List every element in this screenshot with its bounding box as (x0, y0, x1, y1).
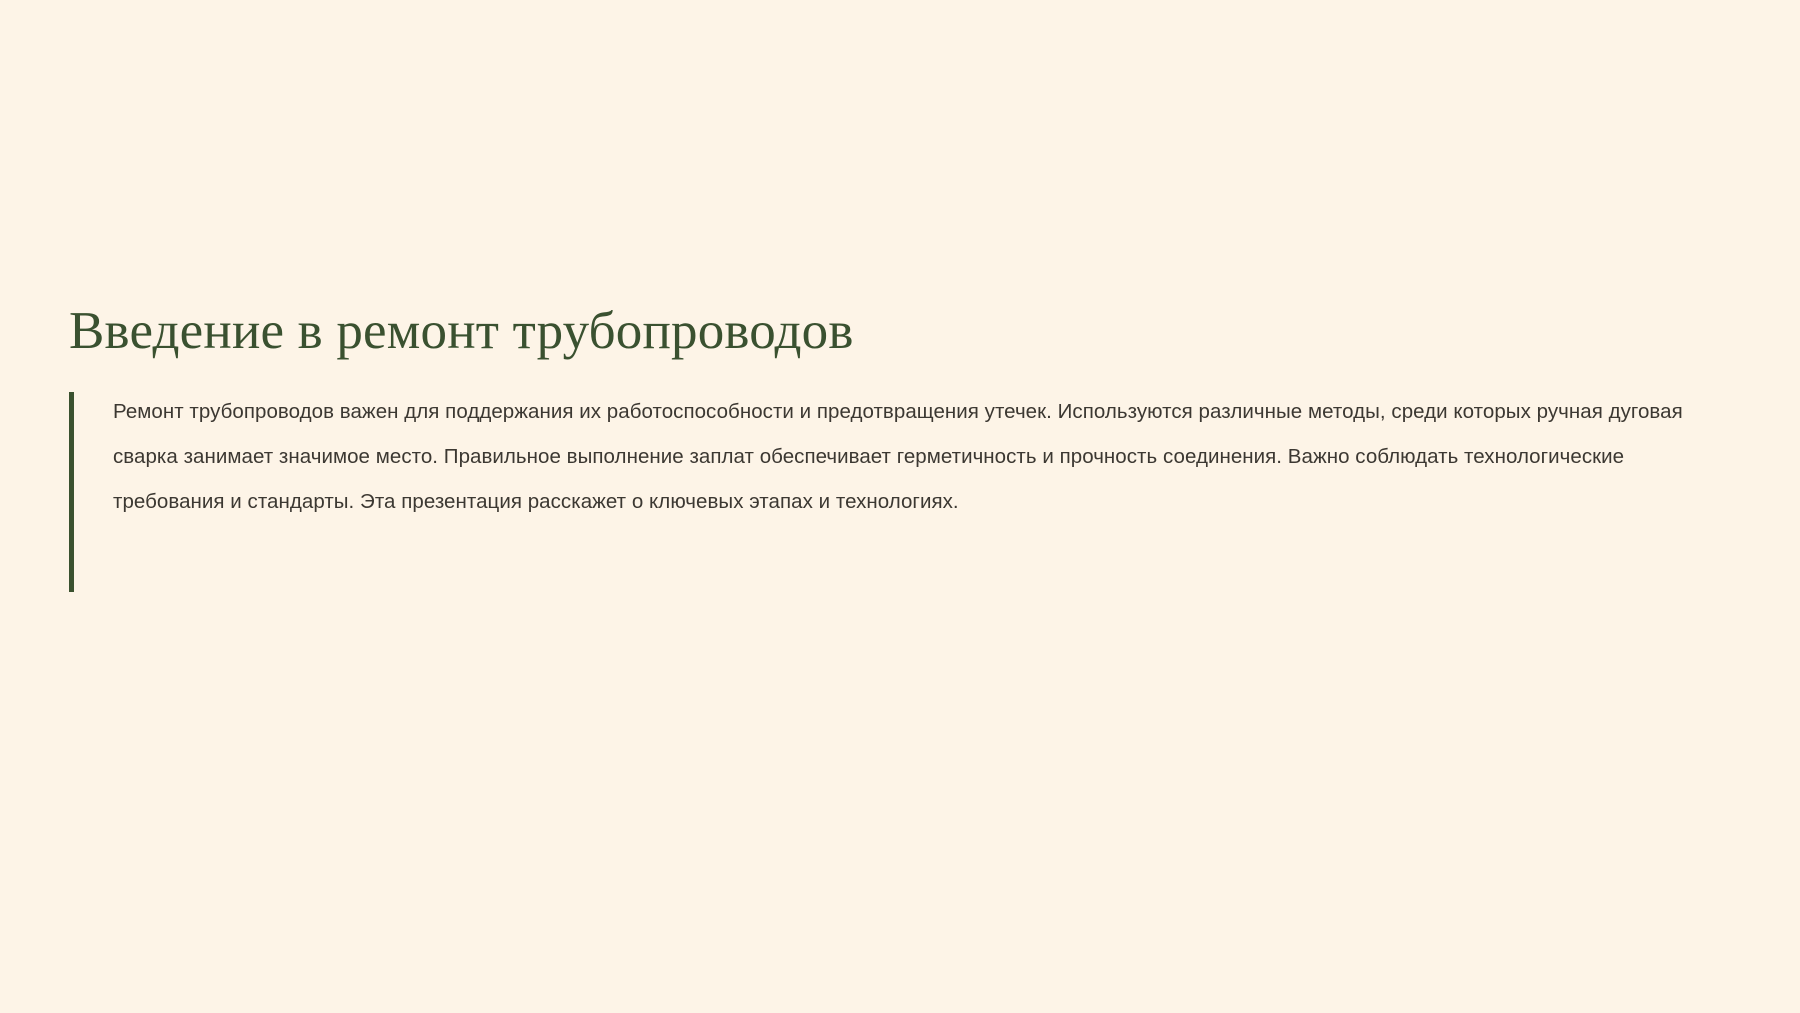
slide-content: Введение в ремонт трубопроводов Ремонт т… (69, 300, 1749, 589)
body-block: Ремонт трубопроводов важен для поддержан… (69, 389, 1749, 589)
page-title: Введение в ремонт трубопроводов (69, 300, 1749, 363)
accent-bar (69, 392, 74, 592)
presentation-slide: Введение в ремонт трубопроводов Ремонт т… (0, 0, 1800, 1013)
body-paragraph: Ремонт трубопроводов важен для поддержан… (113, 389, 1713, 524)
